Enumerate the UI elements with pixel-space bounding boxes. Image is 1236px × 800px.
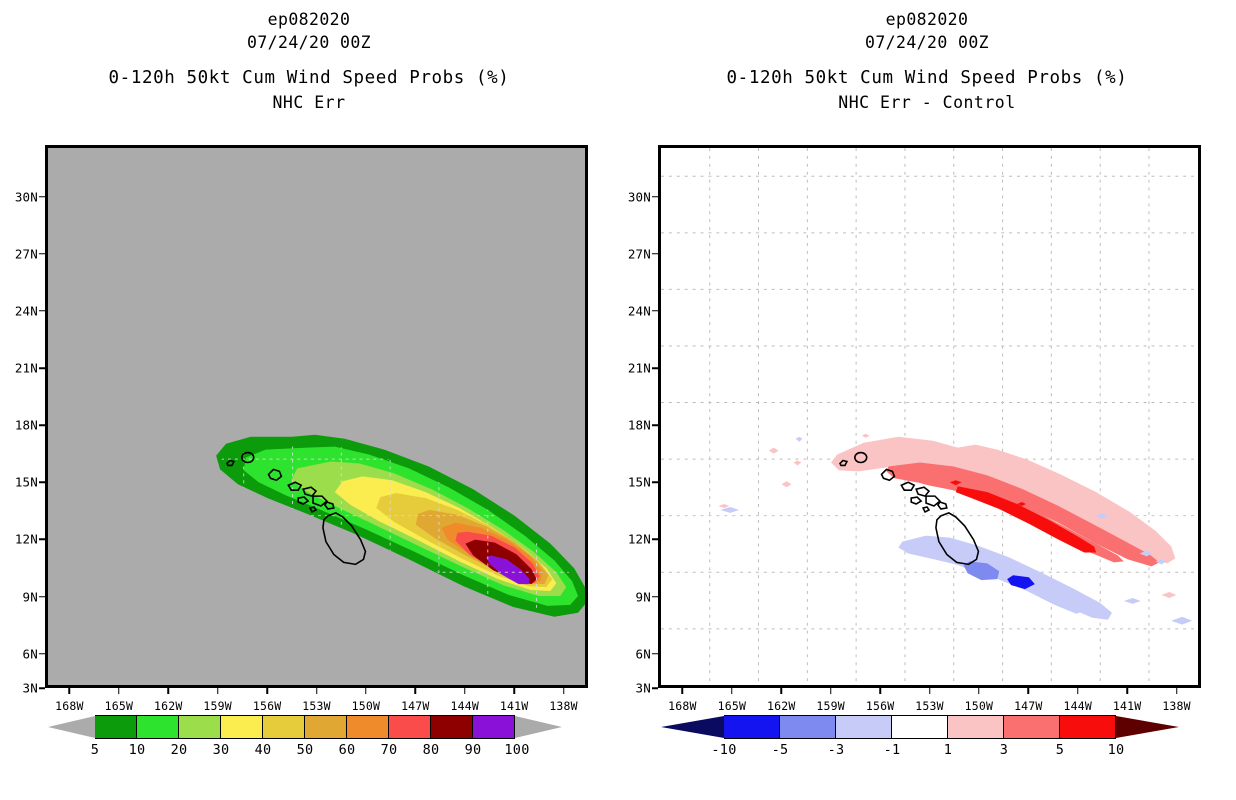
map-area-nhc-err: 30N 27N 24N 21N 18N 15N 12N 9N 6N 3N 168… <box>45 145 588 688</box>
x-tick-label: 138W <box>549 699 578 713</box>
grid-overlay-right <box>661 148 1198 685</box>
y-tick-label: 12N <box>15 532 38 547</box>
panel-heading: 0-120h 50kt Cum Wind Speed Probs (%) <box>618 66 1236 91</box>
colorbar-swatch-80[interactable] <box>431 715 473 739</box>
colorbar-tick: 30 <box>213 742 230 758</box>
y-tick-label: 9N <box>636 589 651 604</box>
colorbar-tick: 3 <box>1000 742 1008 758</box>
colorbar-swatch-neg5[interactable] <box>780 715 836 739</box>
colorbar-tick: 1 <box>944 742 952 758</box>
colorbar-tick: -3 <box>828 742 845 758</box>
x-tick-label: 156W <box>866 699 895 713</box>
colorbar-swatch-pos5[interactable] <box>1060 715 1116 739</box>
y-tick-label: 15N <box>15 475 38 490</box>
colorbar-tick: 5 <box>91 742 99 758</box>
panel-nhc-err-minus-control: ep082020 07/24/20 00Z 0-120h 50kt Cum Wi… <box>618 0 1236 800</box>
x-tick-label: 141W <box>1113 699 1142 713</box>
colorbar-tick: 90 <box>465 742 482 758</box>
panel-nhc-err: ep082020 07/24/20 00Z 0-120h 50kt Cum Wi… <box>0 0 618 800</box>
panel-subheading: NHC Err <box>0 91 618 114</box>
x-tick-label: 156W <box>253 699 282 713</box>
colorbar-swatch-20[interactable] <box>179 715 221 739</box>
colorbar-tick: 50 <box>297 742 314 758</box>
x-tick-label: 138W <box>1162 699 1191 713</box>
colorbar-over-arrow <box>1116 715 1179 739</box>
colorbar-under-arrow <box>48 715 95 739</box>
colorbar-swatch-neg3[interactable] <box>836 715 892 739</box>
y-tick-label: 18N <box>628 418 651 433</box>
x-tick-label: 150W <box>352 699 381 713</box>
colorbar-under-arrow <box>661 715 724 739</box>
y-tick-label: 30N <box>628 189 651 204</box>
map-canvas[interactable] <box>658 145 1201 688</box>
colorbar-tick: 5 <box>1056 742 1064 758</box>
right-panel-titles: ep082020 07/24/20 00Z 0-120h 50kt Cum Wi… <box>618 8 1236 114</box>
x-tick-label: 165W <box>105 699 134 713</box>
colorbar-swatch-70[interactable] <box>389 715 431 739</box>
x-tick-label: 144W <box>1063 699 1092 713</box>
y-tick-label: 6N <box>636 646 651 661</box>
colorbar-tick: 80 <box>423 742 440 758</box>
x-tick-label: 141W <box>500 699 529 713</box>
map-area-difference: 30N 27N 24N 21N 18N 15N 12N 9N 6N 3N 168… <box>658 145 1201 688</box>
colorbar-swatch-60[interactable] <box>347 715 389 739</box>
colorbar-tick: 10 <box>129 742 146 758</box>
colorbar-tick-labels: 5 10 20 30 40 50 60 70 80 90 100 <box>48 742 570 762</box>
panel-subheading: NHC Err - Control <box>618 91 1236 114</box>
map-canvas[interactable] <box>45 145 588 688</box>
contour-plot-left <box>48 148 585 685</box>
positive-difference-contours <box>831 437 1175 567</box>
colorbar-swatch-30[interactable] <box>221 715 263 739</box>
colorbar-swatch-50[interactable] <box>305 715 347 739</box>
x-tick-label: 144W <box>450 699 479 713</box>
x-tick-label: 150W <box>965 699 994 713</box>
colorbar-tick: -10 <box>711 742 736 758</box>
x-tick-label: 165W <box>718 699 747 713</box>
x-tick-label: 159W <box>816 699 845 713</box>
x-tick-label: 162W <box>767 699 796 713</box>
x-tick-label: 162W <box>154 699 183 713</box>
colorbar-over-arrow <box>515 715 562 739</box>
y-tick-label: 9N <box>23 589 38 604</box>
colorbar-swatch-neg10[interactable] <box>724 715 780 739</box>
y-tick-label: 12N <box>628 532 651 547</box>
y-tick-label: 27N <box>15 246 38 261</box>
x-tick-label: 159W <box>203 699 232 713</box>
x-tick-label: 168W <box>668 699 697 713</box>
y-tick-label: 6N <box>23 646 38 661</box>
x-tick-label: 147W <box>1014 699 1043 713</box>
y-tick-label: 15N <box>628 475 651 490</box>
contour-plot-right <box>661 148 1198 685</box>
colorbar-tick: 70 <box>381 742 398 758</box>
panel-heading: 0-120h 50kt Cum Wind Speed Probs (%) <box>0 66 618 91</box>
colorbar-tick: 20 <box>171 742 188 758</box>
grid-overlay-left <box>48 148 585 685</box>
y-tick-label: 18N <box>15 418 38 433</box>
y-tick-label: 24N <box>15 303 38 318</box>
colorbar-swatch-pos1[interactable] <box>948 715 1004 739</box>
colorbar-swatch-10[interactable] <box>137 715 179 739</box>
colorbar-tick: -5 <box>772 742 789 758</box>
colorbar-swatch-neutral[interactable] <box>892 715 948 739</box>
colorbar-tick-labels: -10 -5 -3 -1 1 3 5 10 <box>661 742 1183 762</box>
colorbar-tick: 10 <box>1108 742 1125 758</box>
colorbar-swatch-40[interactable] <box>263 715 305 739</box>
colorbar-tick: 100 <box>504 742 529 758</box>
difference-colorbar[interactable]: -10 -5 -3 -1 1 3 5 10 <box>661 715 1183 739</box>
colorbar-swatch-5[interactable] <box>95 715 137 739</box>
storm-id: ep082020 <box>618 8 1236 31</box>
y-tick-label: 24N <box>628 303 651 318</box>
x-tick-label: 153W <box>302 699 331 713</box>
y-tick-label: 30N <box>15 189 38 204</box>
y-tick-label: 21N <box>15 361 38 376</box>
colorbar-tick: 40 <box>255 742 272 758</box>
colorbar-swatch-pos3[interactable] <box>1004 715 1060 739</box>
valid-datetime: 07/24/20 00Z <box>618 31 1236 54</box>
x-tick-label: 147W <box>401 699 430 713</box>
colorbar-tick: 60 <box>339 742 356 758</box>
wind-speed-probability-figure: ep082020 07/24/20 00Z 0-120h 50kt Cum Wi… <box>0 0 1236 800</box>
colorbar-tick: -1 <box>884 742 901 758</box>
probability-contours <box>216 435 585 617</box>
y-tick-label: 3N <box>636 681 651 696</box>
y-tick-label: 27N <box>628 246 651 261</box>
y-tick-label: 21N <box>628 361 651 376</box>
valid-datetime: 07/24/20 00Z <box>0 31 618 54</box>
colorbar-swatch-100[interactable] <box>473 715 515 739</box>
x-tick-label: 168W <box>55 699 84 713</box>
probability-colorbar[interactable]: 5 10 20 30 40 50 60 70 80 90 100 <box>48 715 570 739</box>
x-tick-label: 153W <box>915 699 944 713</box>
y-tick-label: 3N <box>23 681 38 696</box>
left-panel-titles: ep082020 07/24/20 00Z 0-120h 50kt Cum Wi… <box>0 8 618 114</box>
storm-id: ep082020 <box>0 8 618 31</box>
